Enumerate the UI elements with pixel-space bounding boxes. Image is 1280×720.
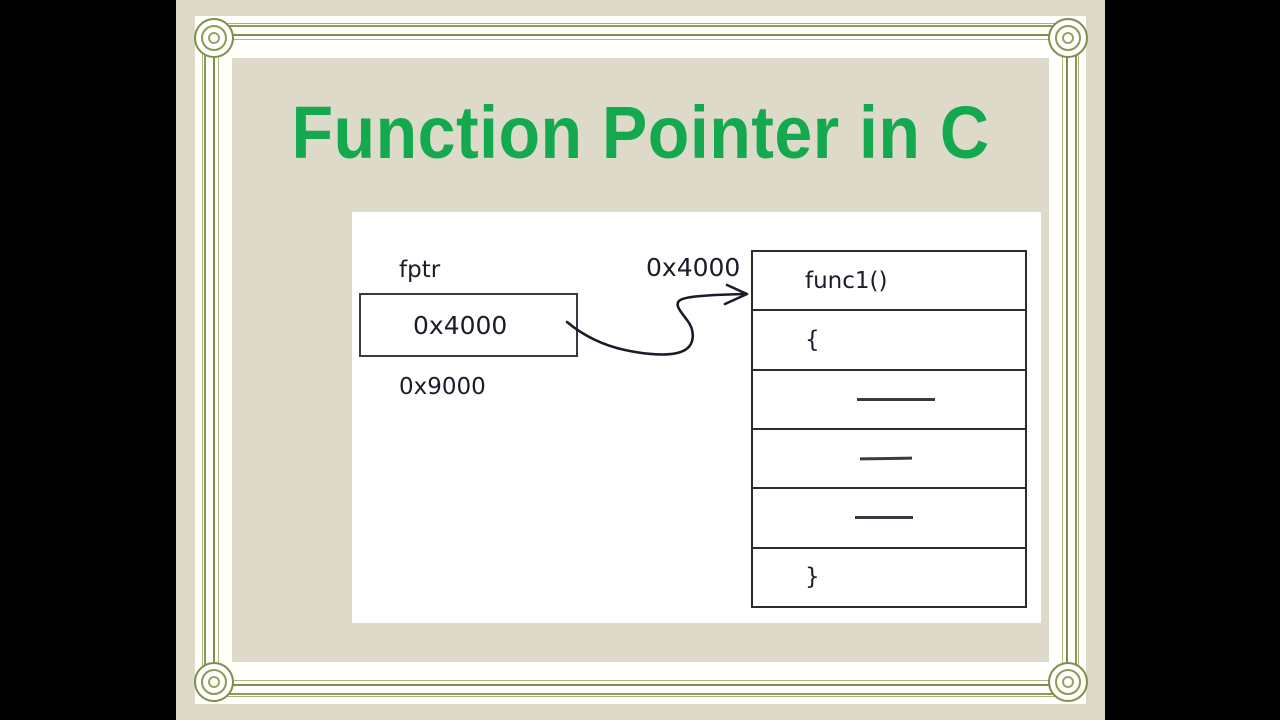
- statement-placeholder-dash: [860, 457, 912, 461]
- slide-content-area: Function Pointer in C fptr 0x4000 0x9000…: [232, 58, 1049, 662]
- statement-placeholder-dash: [857, 398, 935, 401]
- pointer-stored-value: 0x4000: [413, 312, 507, 340]
- arrow-address-annotation: 0x4000: [646, 254, 740, 282]
- table-row: {: [753, 311, 1025, 370]
- video-stage: Function Pointer in C fptr 0x4000 0x9000…: [0, 0, 1280, 720]
- curved-arrow-icon: [567, 282, 757, 392]
- function-pointer-diagram: fptr 0x4000 0x9000 0x4000 func1(): [352, 212, 1041, 623]
- presentation-slide: Function Pointer in C fptr 0x4000 0x9000…: [176, 0, 1105, 720]
- function-body-table: func1() { }: [751, 250, 1027, 608]
- rosette-medallion-icon-top-right: [1048, 18, 1088, 58]
- table-row: [753, 430, 1025, 489]
- slide-title: Function Pointer in C: [265, 93, 1017, 173]
- table-row: [753, 489, 1025, 548]
- pointer-variable-box: 0x4000: [359, 293, 578, 357]
- pointer-own-address-label: 0x9000: [399, 374, 486, 400]
- rosette-medallion-icon-bottom-left: [194, 662, 234, 702]
- function-name-cell: func1(): [753, 268, 887, 294]
- statement-placeholder-dash: [855, 516, 913, 519]
- function-open-brace-cell: {: [753, 327, 820, 353]
- table-row: func1(): [753, 252, 1025, 311]
- function-close-brace-cell: }: [753, 564, 820, 590]
- rosette-medallion-icon-bottom-right: [1048, 662, 1088, 702]
- table-row: }: [753, 549, 1025, 606]
- table-row: [753, 371, 1025, 430]
- pointer-variable-name-label: fptr: [399, 257, 440, 283]
- rosette-medallion-icon-top-left: [194, 18, 234, 58]
